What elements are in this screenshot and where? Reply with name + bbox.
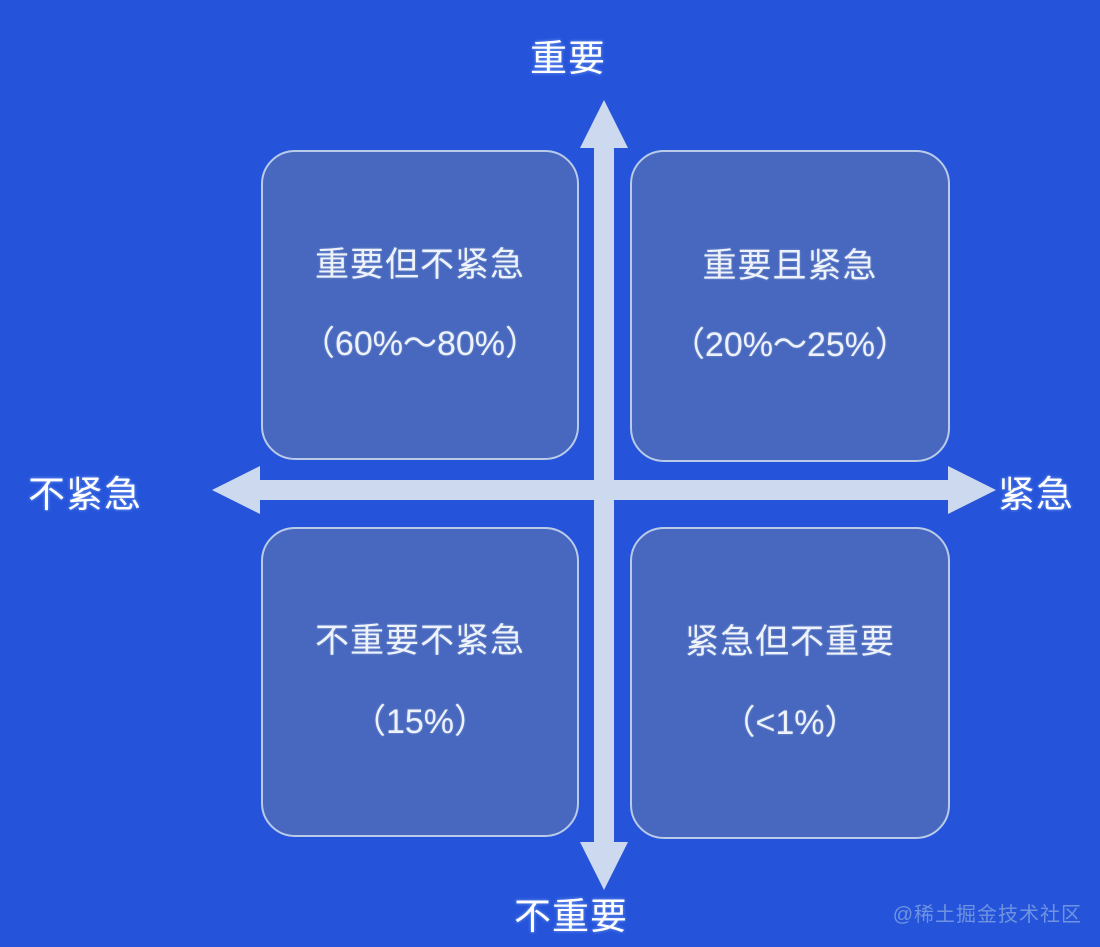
quadrant-important-not-urgent[interactable]: 重要但不紧急 （60%～80%）	[261, 150, 579, 460]
diagram-canvas: 重要 不重要 不紧急 紧急 重要但不紧急 （60%～80%） 重要且紧急 （20…	[0, 0, 1100, 947]
quadrant-value: （<1%）	[722, 705, 859, 742]
quadrant-title: 不重要不紧急	[315, 623, 525, 660]
axis-label-bottom: 不重要	[514, 886, 628, 940]
quadrant-title: 重要但不紧急	[315, 247, 525, 284]
axis-label-left: 不紧急	[28, 464, 142, 518]
quadrant-title: 紧急但不重要	[685, 624, 895, 661]
axis-label-top: 重要	[530, 28, 606, 82]
axis-up-arrow	[580, 100, 628, 890]
quadrant-value: （60%～80%）	[301, 326, 539, 363]
quadrant-title: 重要且紧急	[703, 248, 878, 285]
quadrant-not-important-not-urgent[interactable]: 不重要不紧急 （15%）	[261, 527, 579, 837]
axis-horizontal-arrow	[212, 466, 996, 514]
quadrant-important-and-urgent[interactable]: 重要且紧急 （20%～25%）	[630, 150, 950, 462]
quadrant-value: （15%）	[352, 704, 488, 741]
watermark: @稀土掘金技术社区	[893, 898, 1082, 927]
axis-label-right: 紧急	[998, 464, 1074, 518]
quadrant-value: （20%～25%）	[671, 327, 909, 364]
quadrant-urgent-not-important[interactable]: 紧急但不重要 （<1%）	[630, 527, 950, 839]
